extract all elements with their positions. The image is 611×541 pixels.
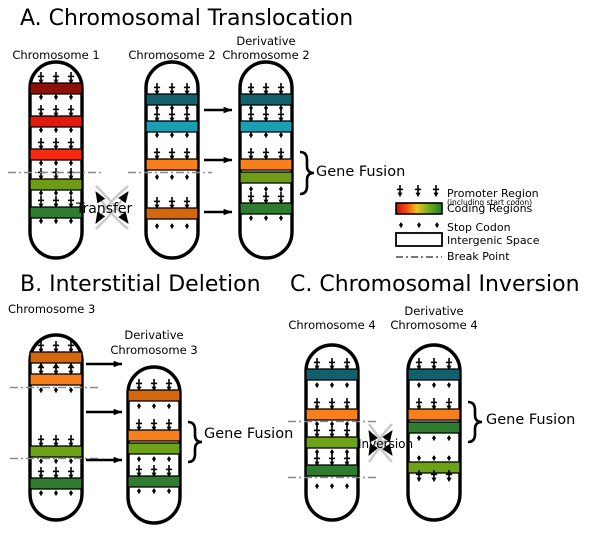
derivative-chromosome-3-label-line2: Chromosome 3 xyxy=(104,343,204,357)
coding-band xyxy=(30,374,82,385)
derivative-chromosome-2[interactable] xyxy=(240,62,292,258)
coding-band xyxy=(240,172,292,183)
coding-band xyxy=(128,443,180,454)
coding-band xyxy=(240,159,292,170)
gene-fusion-brace xyxy=(300,152,314,194)
coding-band xyxy=(30,207,82,218)
chromosome-4[interactable] xyxy=(306,345,358,520)
coding-band xyxy=(30,446,82,457)
legend-coding-region-swatch-icon xyxy=(396,203,442,214)
coding-band xyxy=(146,208,198,219)
chromosome-1-label: Chromosome 1 xyxy=(8,48,104,62)
derivative-chromosome-4[interactable] xyxy=(408,345,460,520)
gene-fusion-label-a: Gene Fusion xyxy=(316,164,405,180)
coding-band xyxy=(30,83,82,94)
coding-band xyxy=(408,409,460,420)
legend-item-label-break-point: Break Point xyxy=(447,250,510,263)
coding-band xyxy=(306,369,358,380)
coding-band xyxy=(240,121,292,132)
legend-item-label-stop-codon: Stop Codon xyxy=(447,221,511,234)
derivative-chromosome-4-label-line2: Chromosome 4 xyxy=(386,318,482,332)
legend-stop-codon-marks-icon xyxy=(399,222,439,227)
coding-band xyxy=(30,478,82,489)
coding-band xyxy=(408,369,460,380)
coding-band xyxy=(306,465,358,476)
coding-band xyxy=(240,203,292,214)
chromosome-rearrangement-diagram xyxy=(0,0,611,541)
derivative-chromosome-2-label-line2: Chromosome 2 xyxy=(218,48,314,62)
coding-band xyxy=(146,94,198,105)
gene-fusion-label-c: Gene Fusion xyxy=(486,412,575,428)
transfer-label: Transfer xyxy=(76,201,132,217)
gene-fusion-brace xyxy=(188,422,202,462)
legend xyxy=(396,185,442,257)
chromosome-1[interactable] xyxy=(30,62,82,258)
derivative-chromosome-3[interactable] xyxy=(128,367,180,523)
legend-promoter-arrows-icon xyxy=(397,185,439,197)
coding-band xyxy=(128,430,180,441)
coding-band xyxy=(30,352,82,363)
legend-item-label-coding: Coding Regions xyxy=(447,202,532,215)
coding-band xyxy=(240,94,292,105)
chromosome-4-label: Chromosome 4 xyxy=(284,318,380,332)
coding-band xyxy=(128,476,180,487)
inversion-label: Inversion xyxy=(358,437,413,451)
panel-c-title: C. Chromosomal Inversion xyxy=(290,272,580,297)
derivative-chromosome-3-label-line1: Derivative xyxy=(104,328,204,342)
coding-band xyxy=(128,390,180,401)
chromosome-2[interactable] xyxy=(146,62,198,258)
coding-band xyxy=(306,409,358,420)
legend-intergenic-space-swatch-icon xyxy=(396,233,442,246)
chromosome-3[interactable] xyxy=(30,335,82,520)
coding-band xyxy=(30,149,82,160)
gene-fusion-label-b: Gene Fusion xyxy=(204,426,293,442)
derivative-chromosome-2-label-line1: Derivative xyxy=(218,34,314,48)
panel-b-title: B. Interstitial Deletion xyxy=(20,272,261,297)
coding-band xyxy=(146,159,198,170)
coding-band xyxy=(146,121,198,132)
chromosome-3-label: Chromosome 3 xyxy=(8,302,118,316)
coding-band xyxy=(30,116,82,127)
panel-a-title: A. Chromosomal Translocation xyxy=(20,6,353,31)
chromosome-2-label: Chromosome 2 xyxy=(124,48,220,62)
derivative-chromosome-4-label-line1: Derivative xyxy=(386,304,482,318)
coding-band xyxy=(408,422,460,433)
coding-band xyxy=(30,179,82,190)
gene-fusion-brace xyxy=(468,402,482,442)
figure-canvas: A. Chromosomal Translocation B. Intersti… xyxy=(0,0,611,541)
legend-item-label-intergenic: Intergenic Space xyxy=(447,234,539,247)
coding-band xyxy=(306,437,358,448)
